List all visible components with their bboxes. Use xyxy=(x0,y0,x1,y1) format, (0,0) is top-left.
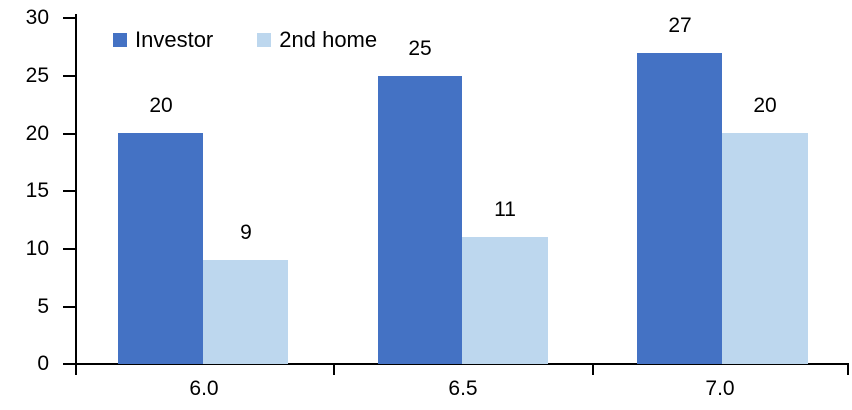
x-axis-label-6-0: 6.0 xyxy=(154,378,254,399)
bar-chart: 30 25 20 15 10 5 0 6.0 6.5 7.0 20 9 xyxy=(0,0,852,410)
bar-2nd-home-7-0 xyxy=(722,133,808,364)
bar-value-2nd-home-6-0: 9 xyxy=(205,222,287,243)
x-tick-sep-1 xyxy=(333,365,335,375)
bar-investor-6-5 xyxy=(378,76,462,364)
legend-label-2nd-home: 2nd home xyxy=(279,29,377,51)
legend-item-2nd-home[interactable]: 2nd home xyxy=(257,29,377,51)
y-axis-label-15: 15 xyxy=(0,180,49,201)
bar-2nd-home-6-5 xyxy=(462,237,548,364)
legend-item-investor[interactable]: Investor xyxy=(113,29,213,51)
legend-swatch-investor-icon xyxy=(113,33,127,47)
x-tick-start xyxy=(75,365,77,375)
y-axis-label-5: 5 xyxy=(0,296,49,317)
bar-investor-6-0 xyxy=(118,133,203,364)
y-axis-label-0: 0 xyxy=(0,353,49,374)
y-axis-label-30: 30 xyxy=(0,7,49,28)
bar-investor-7-0 xyxy=(637,53,722,364)
x-axis-label-7-0: 7.0 xyxy=(670,378,770,399)
bar-value-2nd-home-7-0: 20 xyxy=(724,95,806,116)
bar-2nd-home-6-0 xyxy=(203,260,288,364)
x-tick-sep-2 xyxy=(592,365,594,375)
plot-area: 30 25 20 15 10 5 0 6.0 6.5 7.0 20 9 xyxy=(0,0,852,410)
legend-swatch-2nd-home-icon xyxy=(257,33,271,47)
bar-value-investor-6-0: 20 xyxy=(120,95,202,116)
x-axis-label-6-5: 6.5 xyxy=(413,378,513,399)
y-tick-10 xyxy=(63,248,76,250)
y-tick-25 xyxy=(63,75,76,77)
bar-value-2nd-home-6-5: 11 xyxy=(464,199,546,220)
bar-value-investor-7-0: 27 xyxy=(639,15,721,36)
y-axis-label-20: 20 xyxy=(0,123,49,144)
y-tick-5 xyxy=(63,306,76,308)
x-tick-end xyxy=(847,365,849,375)
legend-label-investor: Investor xyxy=(135,29,213,51)
bar-value-investor-6-5: 25 xyxy=(379,38,461,59)
y-axis-label-10: 10 xyxy=(0,238,49,259)
y-axis-label-25: 25 xyxy=(0,65,49,86)
y-tick-20 xyxy=(63,133,76,135)
y-tick-15 xyxy=(63,190,76,192)
chart-legend: Investor 2nd home xyxy=(113,29,377,51)
y-tick-30 xyxy=(63,17,76,19)
